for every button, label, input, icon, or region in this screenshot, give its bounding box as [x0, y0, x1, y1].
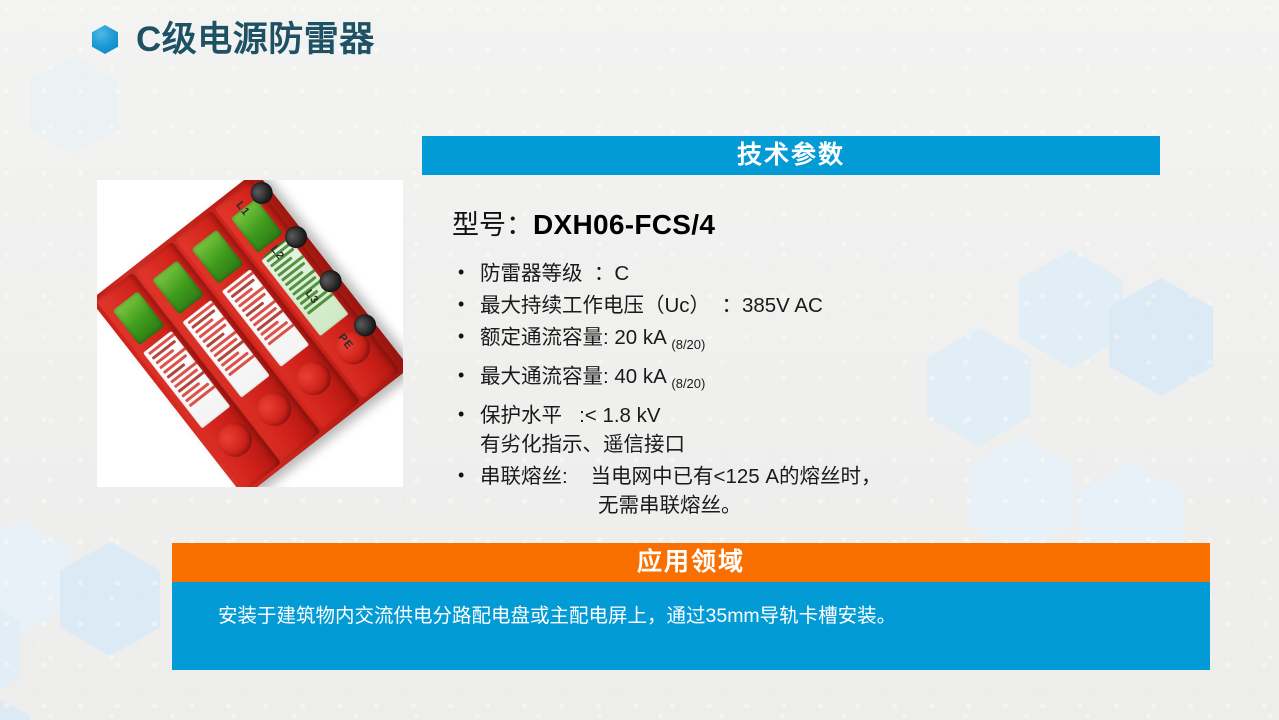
- model-value: DXH06-FCS/4: [533, 209, 715, 241]
- hexagon-icon: [92, 25, 118, 54]
- spec-item-subscript: (8/20): [671, 337, 705, 352]
- product-image: L1 L2 L3 PE: [97, 180, 403, 487]
- spec-item: 额定通流容量: 20 kA (8/20): [452, 323, 1152, 359]
- spec-list: 防雷器等级 ：C最大持续工作电压（Uc） ：385V AC额定通流容量: 20 …: [452, 259, 1152, 523]
- tech-params-header: 技术参数: [422, 136, 1160, 175]
- spec-item-extra-line: 有劣化指示、遥信接口: [480, 430, 1152, 459]
- spec-item: 串联熔丝: 当电网中已有<125 A的熔丝时，无需串联熔丝。: [452, 462, 1152, 520]
- spec-item: 防雷器等级 ：C: [452, 259, 1152, 288]
- spec-item-indent-line: 无需串联熔丝。: [480, 491, 1152, 520]
- application-header-label: 应用领域: [637, 550, 745, 575]
- application-header: 应用领域: [172, 543, 1210, 582]
- spec-item-subscript: (8/20): [671, 376, 705, 391]
- spd-device-illustration: L1 L2 L3 PE: [97, 180, 403, 487]
- application-body: 安装于建筑物内交流供电分路配电盘或主配电屏上，通过35mm导轨卡槽安装。: [172, 582, 1210, 670]
- model-label: 型号：: [452, 203, 533, 242]
- application-panel: 应用领域 安装于建筑物内交流供电分路配电盘或主配电屏上，通过35mm导轨卡槽安装…: [172, 543, 1210, 670]
- spec-item: 最大通流容量: 40 kA (8/20): [452, 362, 1152, 398]
- page-title-row: C级电源防雷器: [92, 22, 375, 57]
- hexagon-decoration-topleft: [30, 55, 120, 145]
- spec-item-text: 额定通流容量: 20 kA: [480, 326, 671, 349]
- application-body-text: 安装于建筑物内交流供电分路配电盘或主配电屏上，通过35mm导轨卡槽安装。: [218, 603, 1180, 629]
- spec-item-text: 最大持续工作电压（Uc） ：385V AC: [480, 294, 823, 317]
- spec-item-text: 串联熔丝: 当电网中已有<125 A的熔丝时，: [480, 465, 882, 488]
- slide-canvas: C级电源防雷器: [0, 0, 1279, 720]
- model-line: 型号： DXH06-FCS/4: [452, 203, 715, 242]
- page-title: C级电源防雷器: [136, 22, 375, 57]
- spec-item: 保护水平 :< 1.8 kV有劣化指示、遥信接口: [452, 401, 1152, 459]
- spec-item-text: 最大通流容量: 40 kA: [480, 365, 671, 388]
- spec-item: 最大持续工作电压（Uc） ：385V AC: [452, 291, 1152, 320]
- spec-item-text: 防雷器等级 ：C: [480, 262, 629, 285]
- tech-params-header-label: 技术参数: [737, 143, 845, 168]
- spec-item-text: 保护水平 :< 1.8 kV: [480, 404, 661, 427]
